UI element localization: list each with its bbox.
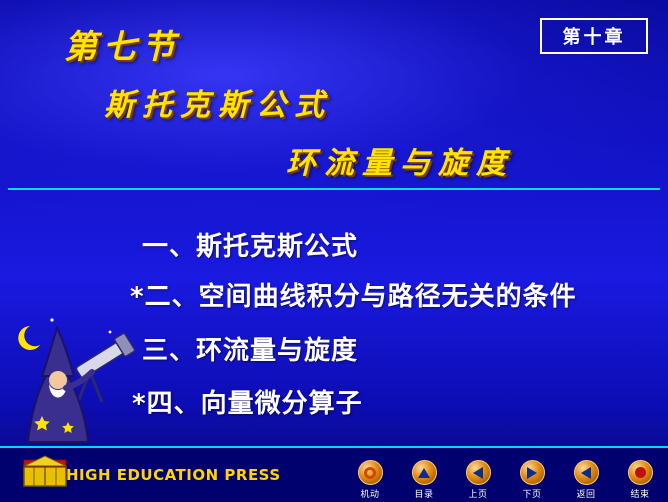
triangle-up-icon	[412, 460, 437, 485]
footer-nav[interactable]: 机动 目录 上页 下页 返回 结束	[350, 460, 660, 500]
triangle-left-back-icon	[574, 460, 599, 485]
nav-label-mulu: 目录	[414, 487, 433, 500]
outline-item-4: *四、向量微分算子	[132, 383, 363, 420]
nav-button-back[interactable]: 返回	[566, 460, 606, 500]
ring-icon	[358, 460, 383, 485]
triangle-left-icon	[466, 460, 491, 485]
chapter-badge: 第十章	[540, 18, 648, 54]
nav-button-mulu[interactable]: 目录	[404, 460, 444, 500]
nav-button-next-page[interactable]: 下页	[512, 460, 552, 500]
title-line-2: 斯托克斯公式	[104, 80, 332, 124]
stop-dot-icon	[628, 460, 653, 485]
nav-label-back: 返回	[576, 487, 595, 500]
press-logo-icon	[22, 454, 68, 488]
title-line-1: 第七节	[64, 20, 181, 68]
nav-label-next-page: 下页	[522, 487, 541, 500]
wizard-telescope-illustration	[12, 310, 140, 450]
nav-label-prev-page: 上页	[468, 487, 487, 500]
title-line-3: 环流量与旋度	[286, 138, 514, 182]
nav-label-end: 结束	[630, 487, 649, 500]
triangle-right-icon	[520, 460, 545, 485]
outline-item-1: 一、斯托克斯公式	[142, 226, 358, 263]
nav-button-prev-page[interactable]: 上页	[458, 460, 498, 500]
nav-button-jidong[interactable]: 机动	[350, 460, 390, 500]
chapter-badge-label: 第十章	[563, 23, 626, 49]
presentation-slide: 第七节 斯托克斯公式 环流量与旋度 第十章 一、斯托克斯公式 *二、空间曲线积分…	[0, 0, 668, 502]
nav-button-end[interactable]: 结束	[620, 460, 660, 500]
nav-label-jidong: 机动	[360, 487, 379, 500]
outline-item-3: 三、环流量与旋度	[142, 330, 358, 367]
press-name: HIGH EDUCATION PRESS	[66, 466, 281, 484]
title-area: 第七节 斯托克斯公式 环流量与旋度 第十章	[8, 6, 660, 190]
outline-item-2: *二、空间曲线积分与路径无关的条件	[130, 276, 577, 313]
